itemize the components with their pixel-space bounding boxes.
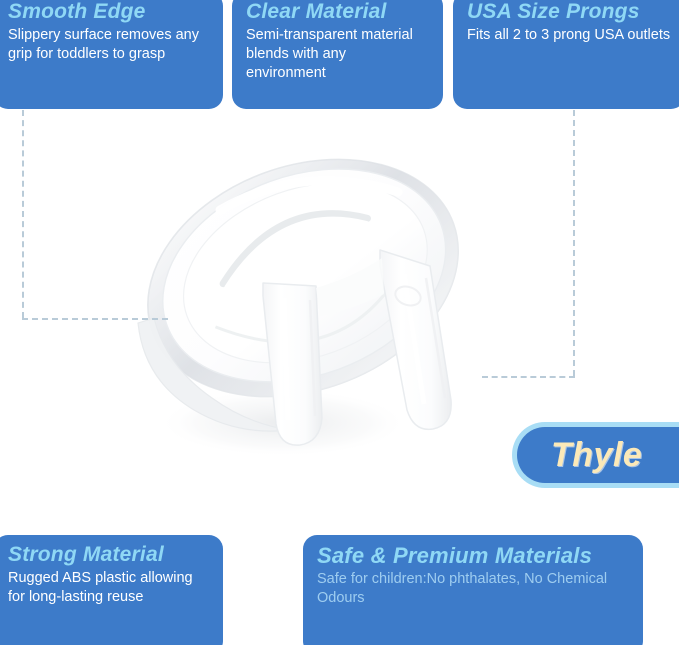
feature-title-strong-material: Strong Material [8, 543, 209, 567]
brand-name: Thyle [551, 436, 642, 475]
connector-line-smooth-edge-vertical [22, 110, 24, 318]
feature-title-usa-prongs: USA Size Prongs [467, 0, 671, 24]
feature-body-smooth-edge: Slippery surface removes any grip for to… [8, 26, 209, 64]
outlet-plug-graphic [108, 118, 528, 518]
product-infographic: Smooth Edge Slippery surface removes any… [0, 0, 679, 645]
product-illustration [108, 118, 528, 518]
feature-body-safe-premium: Safe for children:No phthalates, No Chem… [317, 570, 629, 608]
feature-title-safe-premium: Safe & Premium Materials [317, 543, 629, 568]
feature-card-safe-premium: Safe & Premium Materials Safe for childr… [303, 535, 643, 645]
connector-line-smooth-edge-horizontal [22, 318, 168, 320]
feature-body-usa-prongs: Fits all 2 to 3 prong USA outlets [467, 26, 671, 45]
feature-title-clear-material: Clear Material [246, 0, 429, 24]
feature-card-usa-prongs: USA Size Prongs Fits all 2 to 3 prong US… [453, 0, 679, 109]
feature-title-smooth-edge: Smooth Edge [8, 0, 209, 24]
feature-card-strong-material: Strong Material Rugged ABS plastic allow… [0, 535, 223, 645]
brand-badge: Thyle [512, 422, 679, 488]
connector-line-usa-prongs-vertical [573, 110, 575, 376]
feature-card-smooth-edge: Smooth Edge Slippery surface removes any… [0, 0, 223, 109]
feature-body-strong-material: Rugged ABS plastic allowing for long-las… [8, 569, 209, 607]
connector-line-usa-prongs-horizontal [482, 376, 575, 378]
feature-body-clear-material: Semi-transparent material blends with an… [246, 26, 429, 83]
feature-card-clear-material: Clear Material Semi-transparent material… [232, 0, 443, 109]
